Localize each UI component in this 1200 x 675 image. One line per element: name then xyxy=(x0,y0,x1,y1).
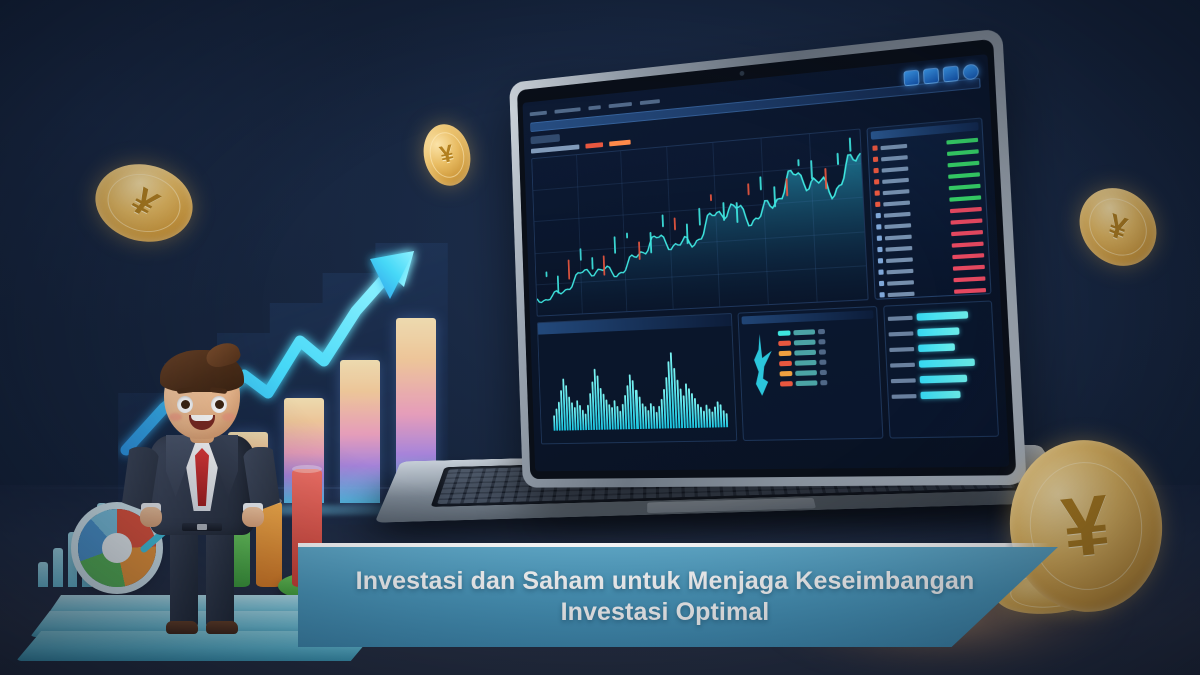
ticker-dot-icon xyxy=(873,157,878,163)
watchlist-panel[interactable] xyxy=(866,117,991,299)
order-size-bar xyxy=(793,329,815,335)
volume-bar xyxy=(635,390,638,429)
ticker-change-value xyxy=(953,276,985,282)
watchlist-row-label xyxy=(876,222,911,229)
yen-symbol: ¥ xyxy=(1058,475,1115,576)
order-meta xyxy=(819,359,826,364)
order-size-bar xyxy=(794,339,816,345)
character-head xyxy=(164,361,240,439)
character-legs xyxy=(166,521,238,629)
candlestick xyxy=(785,179,788,197)
character-eye-left xyxy=(177,396,193,413)
ticker-name xyxy=(887,280,914,286)
order-size-bar xyxy=(795,359,817,365)
screen-main-row xyxy=(531,117,991,316)
ticker-name xyxy=(884,211,911,217)
order-size-bar xyxy=(795,370,817,376)
candlestick xyxy=(698,208,701,226)
orderbook-rows xyxy=(778,324,876,389)
order-meta xyxy=(818,328,825,333)
watchlist-row-label xyxy=(877,245,912,252)
ticker-dot-icon xyxy=(877,235,882,240)
volume-bar xyxy=(638,397,641,429)
yen-symbol: ¥ xyxy=(1105,206,1131,249)
order-badge xyxy=(778,330,791,336)
watchlist-row-label xyxy=(875,188,910,196)
ticker-change-value xyxy=(954,287,986,293)
order-size-bar xyxy=(794,349,816,355)
order-meta xyxy=(818,339,825,344)
banner-title-line-2: Investasi Optimal xyxy=(561,598,770,626)
order-meta xyxy=(820,369,827,374)
volume-bar xyxy=(652,406,655,428)
banner-top-rule xyxy=(298,543,1050,547)
ticker-dot-icon xyxy=(872,145,877,151)
ticker-name xyxy=(883,189,910,195)
laptop-lid xyxy=(509,28,1027,487)
volume-bar xyxy=(726,413,728,427)
ranking-bar xyxy=(916,311,968,321)
menu-item[interactable] xyxy=(609,102,632,108)
ticker-change-value xyxy=(948,160,980,167)
poster-canvas: ¥ ¥ ¥ xyxy=(0,0,1200,675)
ranking-bar xyxy=(917,327,960,336)
candlestick xyxy=(568,259,570,279)
ranking-label xyxy=(890,362,915,367)
ticker-dot-icon xyxy=(873,168,878,174)
character-cheek-left xyxy=(169,413,182,421)
character-hair xyxy=(160,350,244,392)
menu-item[interactable] xyxy=(554,107,580,113)
volume-bars xyxy=(551,340,728,430)
ranking-label xyxy=(891,378,916,383)
ticker-name xyxy=(885,245,912,251)
character-leg-left xyxy=(170,521,198,629)
ticker-change-value xyxy=(947,149,979,156)
ticker-name xyxy=(881,155,908,161)
watchlist-row-label xyxy=(878,256,913,263)
ticker-name xyxy=(882,166,909,172)
character-belt xyxy=(182,523,222,531)
character-mouth xyxy=(189,415,215,430)
ticker-change-value xyxy=(949,183,981,190)
candlestick xyxy=(661,214,663,227)
ticker-change-value xyxy=(952,241,984,247)
ranking-rows xyxy=(887,306,992,404)
order-size-bar xyxy=(796,380,818,386)
watchlist-row-label xyxy=(879,279,914,286)
change-badge-orange xyxy=(609,140,631,147)
ticker-name xyxy=(880,143,907,149)
ticker-name xyxy=(885,234,912,240)
candlestick xyxy=(557,276,559,294)
character-leg-right xyxy=(206,521,234,629)
list-icon[interactable] xyxy=(943,65,959,82)
order-badge xyxy=(778,340,791,346)
ranking-row xyxy=(891,386,993,404)
watchlist-row-label xyxy=(874,177,909,185)
character-hand-left xyxy=(140,507,162,527)
character-cheek-right xyxy=(222,413,235,421)
candlestick xyxy=(686,224,689,245)
character-suit-jacket xyxy=(150,435,254,535)
character-eye-right xyxy=(211,396,227,413)
title-banner: Investasi dan Saham untuk Menjaga Keseim… xyxy=(298,547,1058,647)
character-arm-right xyxy=(242,447,282,533)
ticker-dot-icon xyxy=(875,190,880,195)
laptop-trackpad[interactable] xyxy=(647,498,815,513)
ranking-bar xyxy=(918,343,955,352)
banner-title-line-1: Investasi dan Saham untuk Menjaga Keseim… xyxy=(356,567,975,595)
candlestick xyxy=(614,236,616,254)
ticker-change-value xyxy=(953,264,985,270)
candlestick xyxy=(747,183,749,196)
watchlist-row-label xyxy=(877,234,912,241)
character-hand-right xyxy=(242,507,264,527)
ticker-name xyxy=(887,268,914,274)
candlestick xyxy=(591,257,593,270)
watchlist-row-label xyxy=(878,268,913,275)
volume-bar xyxy=(647,410,650,429)
character-eyebrow-left xyxy=(177,387,194,394)
ranking-label xyxy=(889,346,914,351)
menu-item[interactable] xyxy=(588,105,600,110)
candlestick xyxy=(837,153,840,166)
character-arm-left xyxy=(122,447,162,533)
orderbook-row xyxy=(780,375,876,388)
ticker-change-value xyxy=(952,253,984,259)
ticker-name xyxy=(888,291,915,297)
symbol-name xyxy=(531,144,579,153)
candlestick xyxy=(650,232,653,253)
candlestick xyxy=(638,242,641,260)
ranking-panel[interactable] xyxy=(883,300,999,438)
ranking-bar xyxy=(920,375,967,384)
candlestick xyxy=(626,232,628,239)
volume-bar xyxy=(644,407,647,429)
candlestick xyxy=(797,159,799,167)
ranking-bar xyxy=(920,391,960,399)
candlestick xyxy=(710,194,712,201)
watchlist-row-label xyxy=(875,199,910,207)
order-meta xyxy=(819,349,826,354)
coin-floating-right: ¥ xyxy=(1072,176,1165,277)
ticker-dot-icon xyxy=(877,247,882,252)
candlestick xyxy=(723,202,726,221)
banner-title: Investasi dan Saham untuk Menjaga Keseim… xyxy=(316,566,1041,629)
watchlist-row-label xyxy=(879,291,914,298)
ticker-dot-icon xyxy=(878,269,883,274)
laptop xyxy=(395,55,1075,575)
ticker-dot-icon xyxy=(876,224,881,229)
ranking-label xyxy=(888,315,913,320)
volume-chart[interactable] xyxy=(537,313,737,444)
volume-chart-header xyxy=(538,314,732,335)
ticker-name xyxy=(886,257,913,263)
watchlist-row-label xyxy=(872,143,907,151)
ticker-name xyxy=(884,223,911,229)
ticker-dot-icon xyxy=(878,258,883,263)
order-badge xyxy=(779,350,792,356)
character-shoe-left xyxy=(166,621,198,634)
candlestick xyxy=(849,137,852,151)
ticker-dot-icon xyxy=(879,281,884,286)
ticker-dot-icon xyxy=(875,202,880,207)
candlestick xyxy=(674,217,676,230)
ticker-name xyxy=(882,177,909,183)
sparkline-icon xyxy=(743,328,779,402)
ranking-label xyxy=(889,331,914,336)
laptop-bezel xyxy=(517,39,1016,479)
menu-item[interactable] xyxy=(530,110,547,115)
ticker-change-value xyxy=(950,218,982,224)
ticker-change-value xyxy=(948,172,980,179)
ticker-name xyxy=(883,200,910,206)
candlestick xyxy=(545,271,547,277)
order-badge xyxy=(780,370,793,375)
ranking-bar xyxy=(919,358,975,367)
character-eyebrow-right xyxy=(210,387,227,394)
volume-bar xyxy=(700,407,703,428)
price-badge-red xyxy=(585,142,603,148)
candle-icon[interactable] xyxy=(923,67,939,84)
watchlist-row-label xyxy=(873,165,908,173)
screen-lower-row xyxy=(537,300,999,444)
chart-icon[interactable] xyxy=(903,69,919,86)
businessman-character xyxy=(136,389,268,629)
candlestick xyxy=(603,255,606,276)
ticker-change-value xyxy=(950,206,982,212)
watchlist-row-label xyxy=(873,154,908,162)
trading-dashboard-screen[interactable] xyxy=(523,54,1010,471)
webcam-icon xyxy=(740,71,745,76)
orderbook-header xyxy=(742,310,874,324)
price-chart[interactable] xyxy=(531,128,868,316)
menu-item[interactable] xyxy=(640,99,660,105)
ticker-dot-icon xyxy=(876,213,881,218)
order-meta xyxy=(820,380,827,385)
order-badge xyxy=(780,381,793,386)
ticker-dot-icon xyxy=(874,179,879,185)
ticker-dot-icon xyxy=(879,292,884,297)
watchlist-row-label xyxy=(876,211,911,219)
browser-tab[interactable] xyxy=(531,134,560,144)
ticker-change-value xyxy=(951,229,983,235)
ticker-change-value xyxy=(949,195,981,201)
watchlist-rows[interactable] xyxy=(871,133,987,300)
volume-bar xyxy=(655,411,658,428)
ticker-change-value xyxy=(946,137,978,144)
refresh-icon[interactable] xyxy=(962,63,979,80)
order-badge xyxy=(779,360,792,366)
orderbook-panel[interactable] xyxy=(738,306,884,441)
ranking-label xyxy=(892,394,917,399)
yen-symbol: ¥ xyxy=(122,181,167,226)
candlestick xyxy=(824,168,827,189)
character-shoe-right xyxy=(206,621,238,634)
